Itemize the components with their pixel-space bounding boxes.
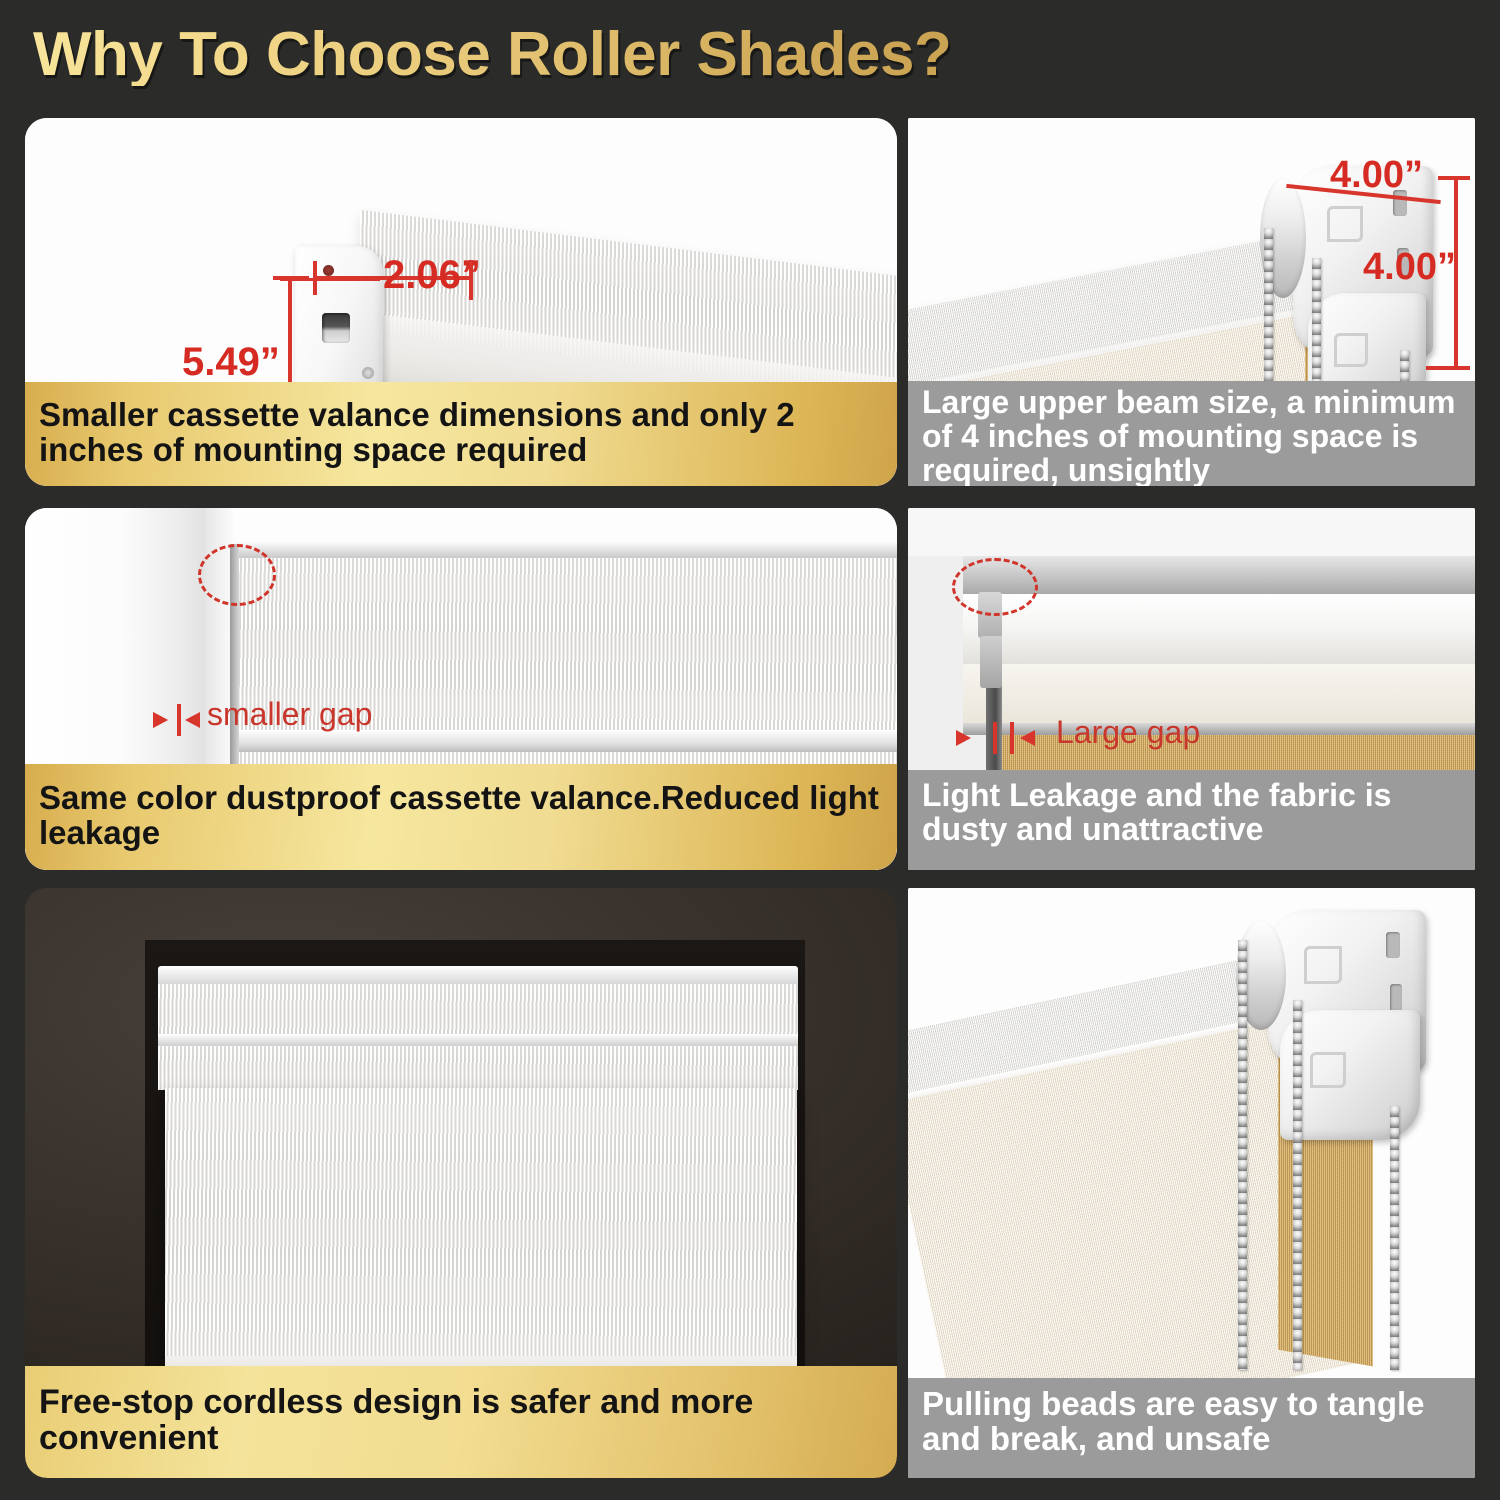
panel-pro-smaller-gap: smaller gap Same color dustproof cassett…: [25, 508, 897, 870]
cassette-lower-face: [158, 1046, 798, 1090]
gap-marker-line-b: [1010, 722, 1014, 754]
panel-con-large-gap: Large gap Light Leakage and the fabric i…: [908, 508, 1475, 870]
gap-arrow-right-icon: [1020, 730, 1035, 746]
shade-mid-rail: [238, 730, 897, 752]
gap-label-large: Large gap: [1056, 714, 1200, 751]
caption-text: Light Leakage and the fabric is dusty an…: [922, 778, 1461, 846]
caption-con-pull-beads: Pulling beads are easy to tangle and bre…: [908, 1378, 1475, 1478]
dim-beam-height-tick-bottom: [1426, 366, 1470, 370]
bead-chain-left: [1238, 940, 1247, 1370]
bracket-piece-lower: [980, 636, 1002, 688]
bracket-slot-top: [1386, 932, 1400, 958]
screw-top-icon: [323, 265, 334, 276]
valance-head-rail: [235, 542, 897, 558]
roller-slot: [322, 313, 350, 343]
panel-pro-cordless: Free-stop cordless design is safer and m…: [25, 888, 897, 1478]
bracket-hook-glyph-bottom: [1310, 1052, 1346, 1088]
bracket-hook-glyph-top: [1327, 206, 1363, 242]
dim-height-tick-top: [273, 276, 309, 280]
caption-text: Large upper beam size, a minimum of 4 in…: [922, 385, 1461, 486]
gap-arrow-right-icon: [185, 712, 200, 728]
caption-text: Smaller cassette valance dimensions and …: [39, 397, 883, 468]
screw-mid-icon: [362, 367, 374, 379]
dim-beam-height-label: 4.00”: [1363, 246, 1456, 289]
highlight-circle: [952, 558, 1038, 616]
panel-con-beam-size: 4.00” 4.00” Large upper beam size, a min…: [908, 118, 1475, 486]
panel-con-pull-beads: Pulling beads are easy to tangle and bre…: [908, 888, 1475, 1478]
shade-fabric-main: [165, 1088, 797, 1378]
caption-pro-smaller-gap: Same color dustproof cassette valance.Re…: [25, 764, 897, 870]
header-bar: Why To Choose Roller Shades?: [0, 0, 1500, 112]
highlight-circle: [198, 544, 276, 606]
dim-width-tick-left: [313, 261, 317, 295]
beam-body: [963, 594, 1475, 666]
gap-marker-line-a: [993, 722, 997, 754]
caption-pro-cassette-size: Smaller cassette valance dimensions and …: [25, 382, 897, 486]
gap-arrow-left-icon: [956, 730, 971, 746]
bead-chain-right: [1390, 1106, 1399, 1370]
gap-label-smaller: smaller gap: [207, 696, 372, 733]
page-title: Why To Choose Roller Shades?: [33, 24, 951, 86]
panel-pro-cassette-size: 2.06” 5.49” Smaller cassette valance dim…: [25, 118, 897, 486]
dim-width-label: 2.06”: [383, 253, 481, 298]
bead-chain-mid: [1293, 1000, 1302, 1370]
dim-height-label: 5.49”: [182, 340, 280, 385]
bracket-hook-glyph-top: [1304, 946, 1342, 984]
caption-text: Same color dustproof cassette valance.Re…: [39, 780, 883, 851]
bracket-slot-mid: [1390, 984, 1402, 1012]
gap-marker-line: [177, 704, 181, 736]
beam-bottom-edge: [963, 723, 1475, 735]
beam-top: [963, 556, 1475, 594]
bracket-hook-glyph-bottom: [1334, 333, 1368, 367]
dim-beam-height-tick-top: [1438, 176, 1470, 180]
caption-pro-cordless: Free-stop cordless design is safer and m…: [25, 1366, 897, 1478]
caption-text: Free-stop cordless design is safer and m…: [39, 1384, 883, 1457]
gap-arrow-in-icon: [153, 712, 168, 728]
wall-surface: [908, 508, 1475, 556]
dim-beam-width-label: 4.00”: [1330, 154, 1423, 197]
caption-con-beam-size: Large upper beam size, a minimum of 4 in…: [908, 381, 1475, 486]
caption-con-large-gap: Light Leakage and the fabric is dusty an…: [908, 770, 1475, 870]
caption-text: Pulling beads are easy to tangle and bre…: [922, 1386, 1461, 1457]
beam-lower-face: [963, 664, 1475, 726]
